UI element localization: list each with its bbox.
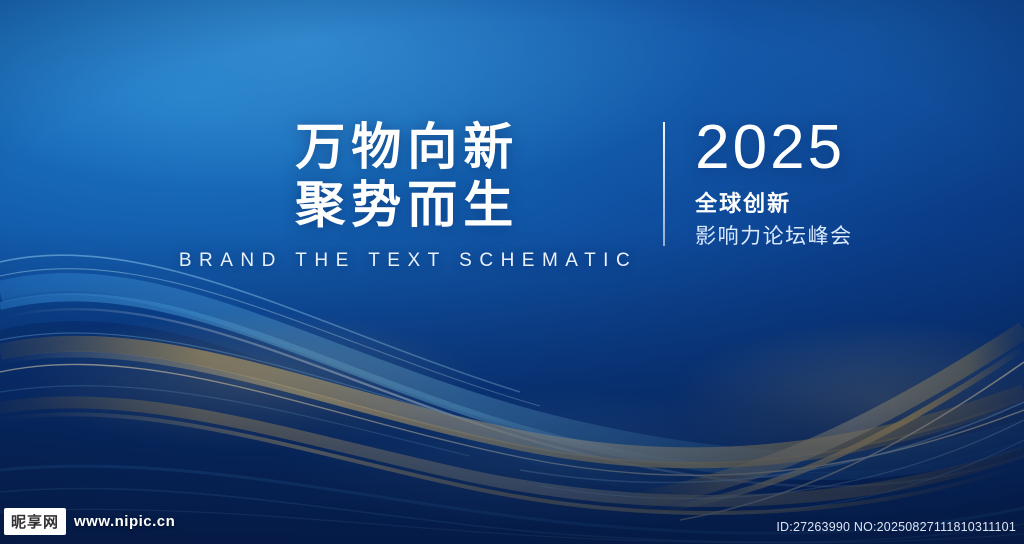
watermark-badge: 昵享网 bbox=[4, 508, 66, 535]
background-vignette bbox=[0, 0, 1024, 544]
poster-canvas: 万物向新 聚势而生 BRAND THE TEXT SCHEMATIC 2025 … bbox=[0, 0, 1024, 544]
year-label: 2025 bbox=[695, 114, 845, 182]
asset-id-code: ID:27263990 NO:20250827111810311101 bbox=[776, 520, 1016, 534]
watermark: 昵享网 www.nipic.cn bbox=[0, 506, 175, 536]
event-subtitle-secondary: 影响力论坛峰会 bbox=[695, 224, 853, 250]
right-info-block: 2025 全球创新 影响力论坛峰会 bbox=[665, 114, 853, 250]
chinese-headline-block: 万物向新 聚势而生 BRAND THE TEXT SCHEMATIC bbox=[171, 118, 663, 272]
headline-line-1: 万物向新 bbox=[289, 118, 519, 176]
watermark-url: www.nipic.cn bbox=[74, 513, 175, 530]
headline-latin-subtitle: BRAND THE TEXT SCHEMATIC bbox=[171, 250, 637, 272]
headline-line-2: 聚势而生 bbox=[289, 176, 519, 234]
event-subtitle-primary: 全球创新 bbox=[695, 190, 791, 218]
title-lockup: 万物向新 聚势而生 BRAND THE TEXT SCHEMATIC 2025 … bbox=[0, 118, 1024, 272]
